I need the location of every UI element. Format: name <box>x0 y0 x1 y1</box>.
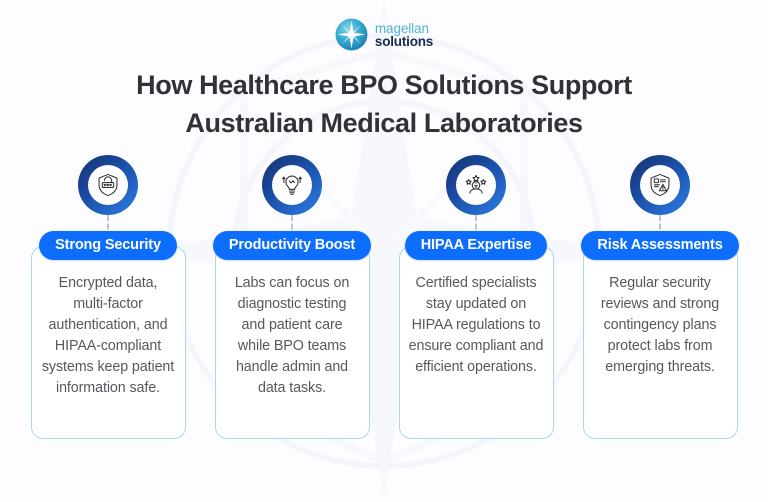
feature-card-productivity-boost: Labs can focus on diagnostic testing and… <box>215 246 370 439</box>
icon-badge-strong-security <box>78 155 138 215</box>
card-wrapper: HIPAA Expertise Certified specialists st… <box>392 231 560 439</box>
feature-label-hipaa-expertise[interactable]: HIPAA Expertise <box>405 231 548 260</box>
feature-label-productivity-boost[interactable]: Productivity Boost <box>213 231 371 260</box>
feature-card-risk-assessments: Regular security reviews and strong cont… <box>583 246 738 439</box>
card-wrapper: Strong Security Encrypted data, multi-fa… <box>24 231 192 439</box>
page-title: How Healthcare BPO Solutions Support Aus… <box>0 66 768 143</box>
feature-card-hipaa-expertise: Certified specialists stay updated on HI… <box>399 246 554 439</box>
icon-badge-risk-assessments <box>630 155 690 215</box>
feature-body-risk-assessments: Regular security reviews and strong cont… <box>593 273 728 378</box>
compass-rose-icon <box>335 18 368 51</box>
logo-word-magellan: magellan <box>375 22 433 36</box>
feature-body-productivity-boost: Labs can focus on diagnostic testing and… <box>225 273 360 399</box>
shield-risk-report-icon <box>640 165 680 205</box>
title-line-1: How Healthcare BPO Solutions Support <box>0 66 768 104</box>
card-wrapper: Productivity Boost Labs can focus on dia… <box>208 231 376 439</box>
shield-password-icon <box>88 165 128 205</box>
icon-badge-productivity-boost <box>262 155 322 215</box>
feature-columns: Strong Security Encrypted data, multi-fa… <box>24 155 744 439</box>
certified-specialist-icon <box>456 165 496 205</box>
feature-label-strong-security[interactable]: Strong Security <box>39 231 177 260</box>
feature-column-hipaa-expertise: HIPAA Expertise Certified specialists st… <box>392 155 560 439</box>
infographic-canvas: magellan solutions How Healthcare BPO So… <box>0 0 768 502</box>
logo-word-solutions: solutions <box>375 35 433 49</box>
feature-column-risk-assessments: Risk Assessments Regular security review… <box>576 155 744 439</box>
feature-column-strong-security: Strong Security Encrypted data, multi-fa… <box>24 155 192 439</box>
card-wrapper: Risk Assessments Regular security review… <box>576 231 744 439</box>
title-line-2: Australian Medical Laboratories <box>0 104 768 142</box>
feature-label-risk-assessments[interactable]: Risk Assessments <box>581 231 738 260</box>
feature-column-productivity-boost: Productivity Boost Labs can focus on dia… <box>208 155 376 439</box>
feature-body-hipaa-expertise: Certified specialists stay updated on HI… <box>409 273 544 378</box>
icon-badge-hipaa-expertise <box>446 155 506 215</box>
brand-logo: magellan solutions <box>0 18 768 51</box>
feature-body-strong-security: Encrypted data, multi-factor authenticat… <box>41 273 176 399</box>
lightbulb-growth-icon <box>272 165 312 205</box>
feature-card-strong-security: Encrypted data, multi-factor authenticat… <box>31 246 186 439</box>
